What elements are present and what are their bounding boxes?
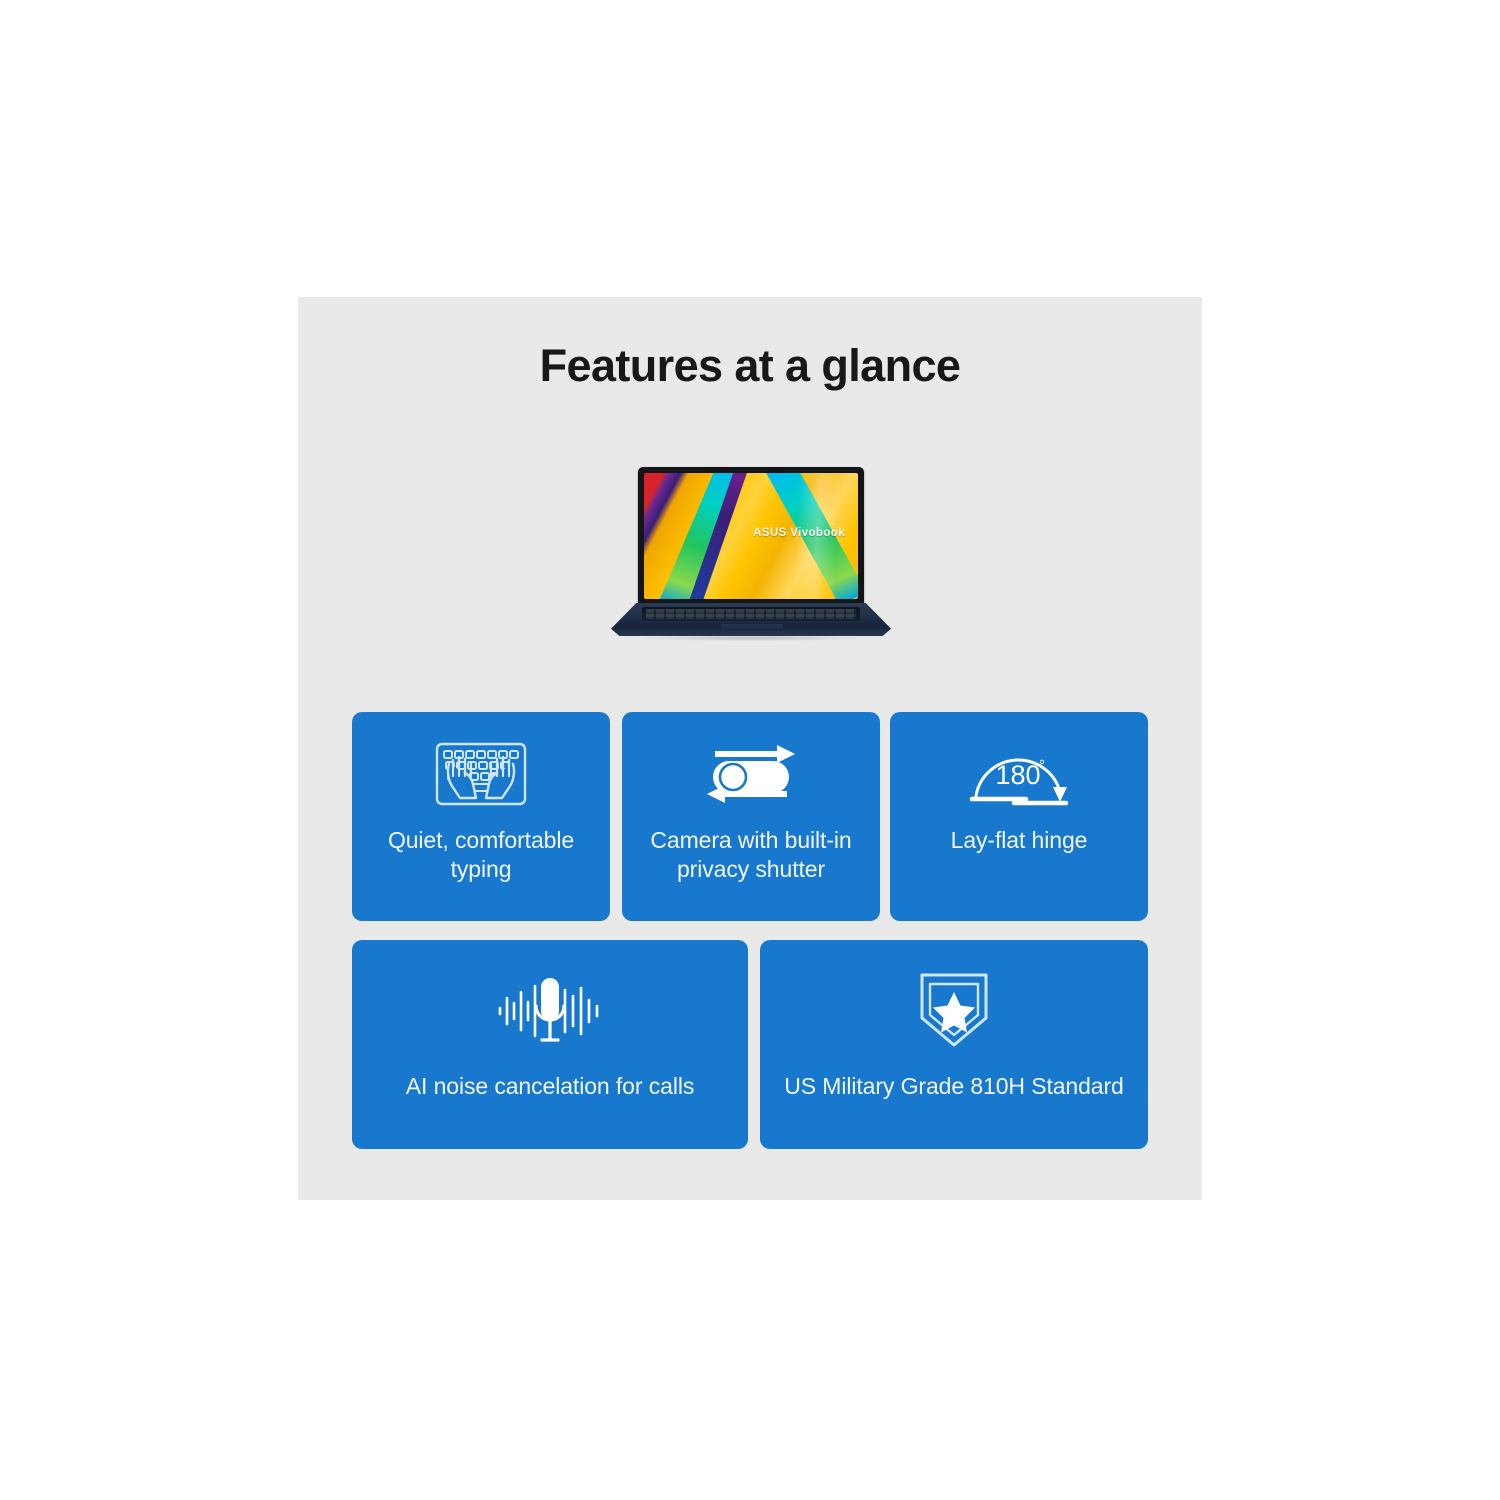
feature-card-label: US Military Grade 810H Standard: [774, 1072, 1134, 1101]
laptop-keyboard-deck: [642, 607, 860, 621]
laptop-product-image: ASUS Vivobook: [611, 467, 891, 642]
features-panel: Features at a glance ASUS Vivobook: [298, 297, 1202, 1200]
shield-star-icon: [760, 970, 1148, 1050]
hinge-angle-unit: °: [1039, 757, 1045, 774]
feature-card-label: Camera with built-in privacy shutter: [622, 826, 880, 884]
feature-card-hinge[interactable]: 180 ° Lay-flat hinge: [890, 712, 1148, 921]
page-title: Features at a glance: [298, 340, 1202, 392]
feature-card-camera[interactable]: Camera with built-in privacy shutter: [622, 712, 880, 921]
feature-card-military[interactable]: US Military Grade 810H Standard: [760, 940, 1148, 1149]
feature-card-label: AI noise cancelation for calls: [396, 1072, 705, 1101]
screen-brand-text: ASUS Vivobook: [753, 527, 845, 539]
keyboard-hands-icon: [352, 738, 610, 810]
laptop-drop-shadow: [633, 635, 869, 641]
laptop-base: [611, 603, 891, 636]
screenshot-root: Features at a glance ASUS Vivobook: [0, 0, 1500, 1500]
privacy-shutter-icon: [622, 738, 880, 810]
laptop-screen: ASUS Vivobook: [644, 473, 858, 599]
feature-card-typing[interactable]: Quiet, comfortable typing: [352, 712, 610, 921]
hinge-180-icon: 180 °: [890, 738, 1148, 810]
microphone-waveform-icon: [352, 972, 748, 1050]
feature-card-label: Quiet, comfortable typing: [352, 826, 610, 884]
feature-card-noise[interactable]: AI noise cancelation for calls: [352, 940, 748, 1149]
feature-card-label: Lay-flat hinge: [941, 826, 1098, 855]
hinge-angle-value: 180: [995, 760, 1040, 790]
laptop-lid: ASUS Vivobook: [638, 467, 864, 610]
laptop-touchpad: [721, 624, 783, 631]
